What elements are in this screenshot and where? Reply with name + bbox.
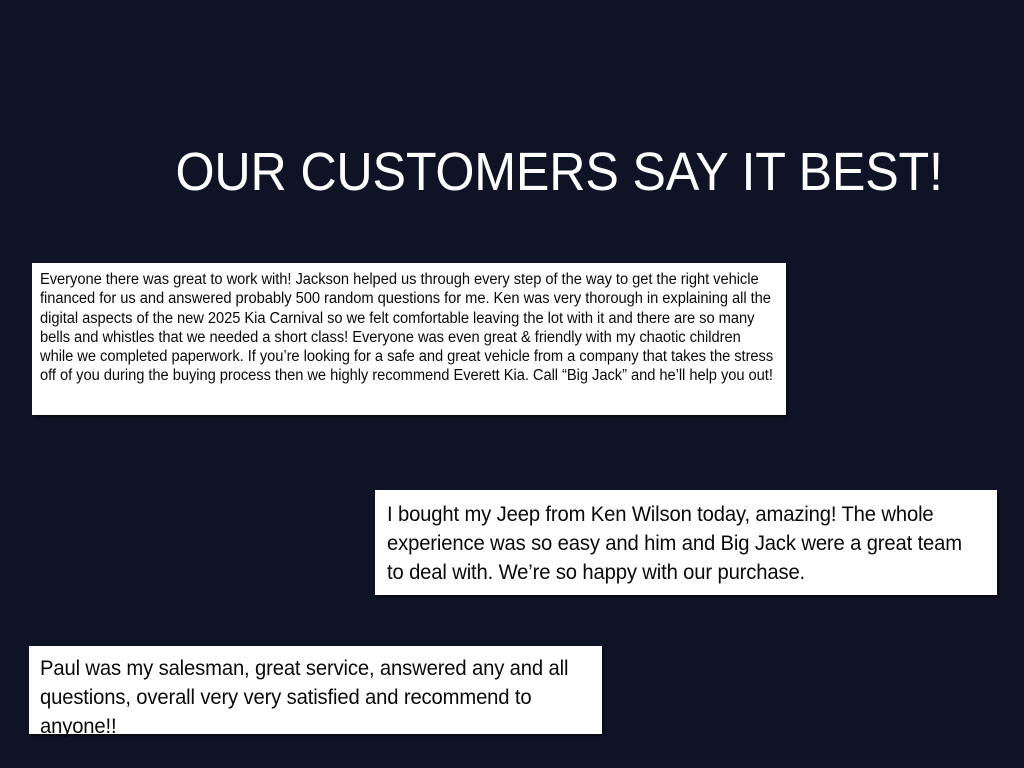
testimonial-card-2: I bought my Jeep from Ken Wilson today, …	[375, 490, 997, 595]
testimonial-text-3: Paul was my salesman, great service, ans…	[40, 655, 590, 741]
testimonial-card-3: Paul was my salesman, great service, ans…	[29, 646, 602, 734]
testimonial-text-2: I bought my Jeep from Ken Wilson today, …	[387, 501, 984, 587]
testimonial-card-1: Everyone there was great to work with! J…	[32, 263, 786, 415]
presentation-slide: OUR CUSTOMERS SAY IT BEST! Everyone ther…	[0, 0, 1024, 768]
page-title: OUR CUSTOMERS SAY IT BEST!	[176, 140, 855, 204]
testimonial-text-1: Everyone there was great to work with! J…	[40, 270, 778, 386]
